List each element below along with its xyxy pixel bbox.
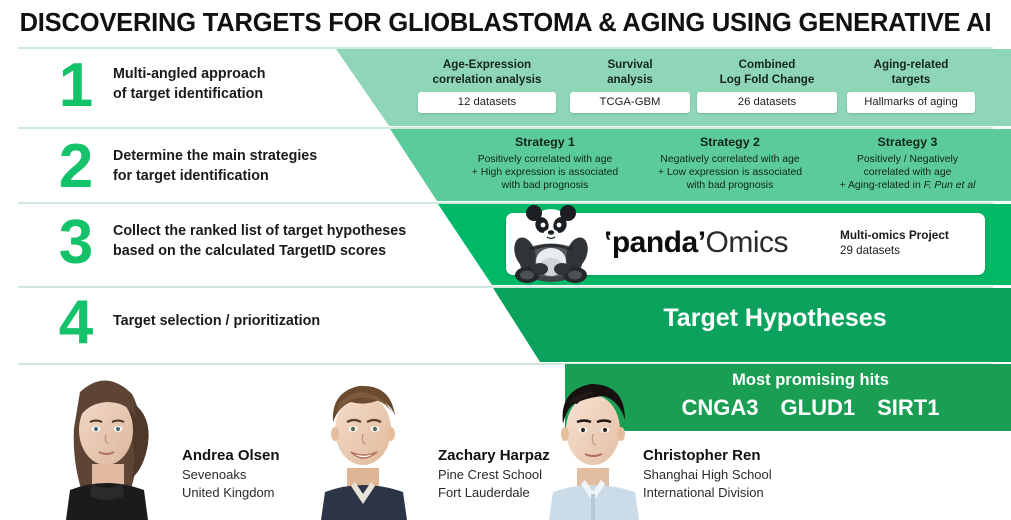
step-number-2: 2 [40,136,112,198]
analysis-column-aging-related: Aging-relatedtargets Hallmarks of aging [847,57,975,113]
panda-icon [509,205,593,285]
step-number-1: 1 [40,55,112,117]
dataset-badge[interactable]: 12 datasets [418,92,556,113]
analysis-heading: Age-Expressioncorrelation analysis [418,57,556,87]
step-number-3: 3 [40,212,112,274]
step-number-4: 4 [40,292,112,354]
divider-row3-row4 [18,286,993,288]
person-info: Andrea Olsen Sevenoaks United Kingdom [182,446,280,502]
divider-row1-row2 [18,127,993,129]
person-location: International Division [643,484,772,502]
person-org: Sevenoaks [182,466,280,484]
person-name: Andrea Olsen [182,446,280,466]
strategy-heading: Strategy 2 [640,134,820,150]
strategy-body-line-3: + Aging-related in F. Pun et al [820,179,995,192]
project-datasets: 29 datasets [840,243,949,258]
strategy-citation-italic: F. Pun et al [924,180,976,191]
person-name: Christopher Ren [643,446,772,466]
project-meta: Multi-omics Project 29 datasets [840,228,949,258]
step-text-4: Target selection / prioritization [113,311,320,331]
strategy-body: Positively correlated with age+ High exp… [455,153,635,193]
pandaomics-wordmark-light: Omics [706,226,789,259]
analysis-column-survival: Survivalanalysis TCGA-GBM [570,57,690,113]
divider-top [18,47,993,49]
analysis-column-log-fold-change: CombinedLog Fold Change 26 datasets [697,57,837,113]
page-title: DISCOVERING TARGETS FOR GLIOBLASTOMA & A… [0,4,1011,42]
person-card: Andrea Olsen Sevenoaks United Kingdom [30,368,290,520]
step-text-1: Multi-angled approachof target identific… [113,64,266,104]
strategy-1: Strategy 1 Positively correlated with ag… [455,134,635,193]
analysis-heading: Survivalanalysis [570,57,690,87]
hit-gene-3: SIRT1 [877,395,939,420]
person-card: Zachary Harpaz Pine Crest School Fort La… [290,368,560,520]
divider-row2-row3 [18,202,993,204]
portrait-andrea-olsen [40,372,175,520]
person-location: United Kingdom [182,484,280,502]
step-text-2: Determine the main strategiesfor target … [113,146,317,186]
strategy-heading: Strategy 3 [820,134,995,150]
target-hypotheses-label: Target Hypotheses [560,302,990,334]
strategy-heading: Strategy 1 [455,134,635,150]
person-card: Christopher Ren Shanghai High School Int… [525,368,825,520]
dataset-badge[interactable]: TCGA-GBM [570,92,690,113]
portrait-christopher-ren [525,372,660,520]
strategy-body: Negatively correlated with age+ Low expr… [640,153,820,193]
strategy-3: Strategy 3 Positively / Negatively corre… [820,134,995,193]
analysis-heading: Aging-relatedtargets [847,57,975,87]
pandaomics-wordmark: ‛panda’Omics [604,224,788,262]
infographic-root: DISCOVERING TARGETS FOR GLIOBLASTOMA & A… [0,0,1011,520]
strategy-body-line-1: Positively / Negatively [820,153,995,166]
dataset-badge[interactable]: Hallmarks of aging [847,92,975,113]
analysis-heading: CombinedLog Fold Change [697,57,837,87]
strategy-citation-prefix: + Aging-related in [840,180,924,191]
person-info: Christopher Ren Shanghai High School Int… [643,446,772,502]
strategy-body-line-2: correlated with age [820,166,995,179]
project-title: Multi-omics Project [840,228,949,243]
person-org: Shanghai High School [643,466,772,484]
step-text-3: Collect the ranked list of target hypoth… [113,221,406,261]
dataset-badge[interactable]: 26 datasets [697,92,837,113]
quote-glyph-right: ’ [698,226,706,259]
analysis-column-age-expression: Age-Expressioncorrelation analysis 12 da… [418,57,556,113]
quote-glyph-left: ‛ [604,226,612,259]
strategy-body: Positively / Negatively correlated with … [820,153,995,193]
strategy-2: Strategy 2 Negatively correlated with ag… [640,134,820,193]
pandaomics-wordmark-bold: panda [612,226,698,259]
portrait-zachary-harpaz [295,372,430,520]
